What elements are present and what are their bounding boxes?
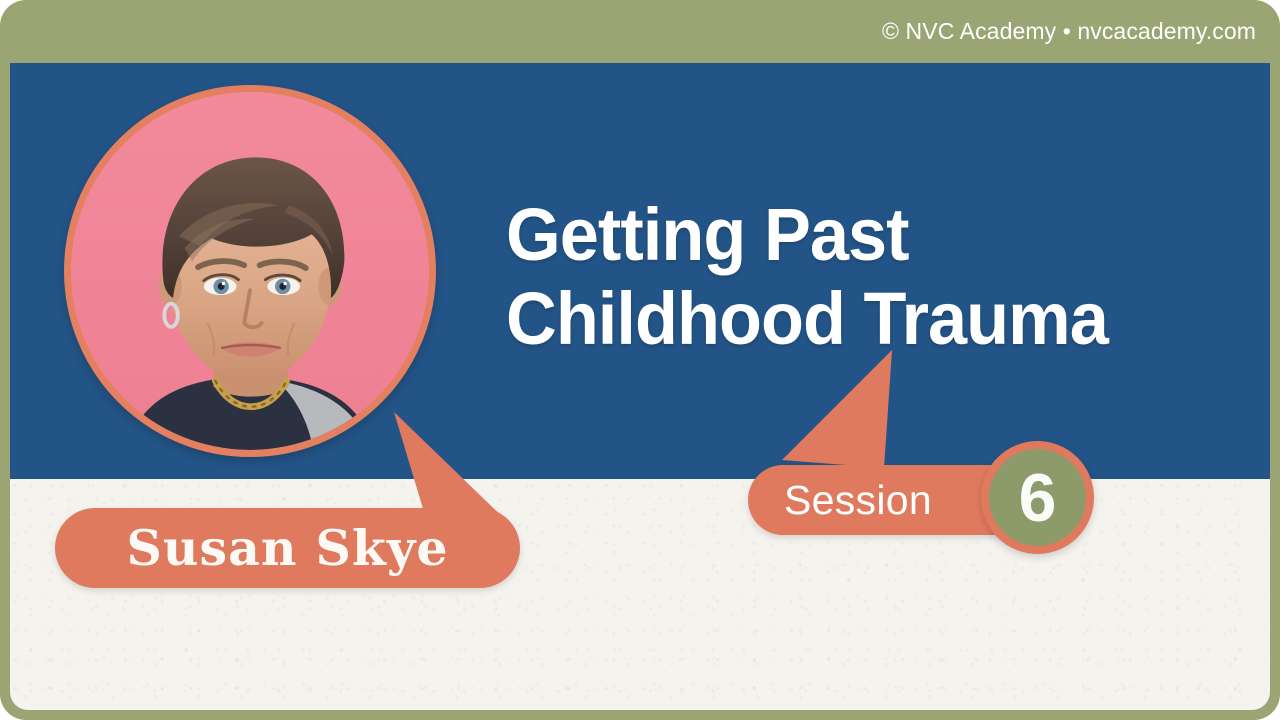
presentation-slide: © NVC Academy • nvcacademy.com bbox=[0, 0, 1280, 720]
copyright-text: © NVC Academy • nvcacademy.com bbox=[882, 18, 1256, 45]
title-line-1: Getting Past bbox=[506, 193, 1171, 277]
speaker-name-label: Susan Skye bbox=[126, 519, 448, 577]
page-title: Getting Past Childhood Trauma bbox=[506, 193, 1206, 361]
session-number-badge: 6 bbox=[981, 441, 1094, 554]
speaker-name-badge: Susan Skye bbox=[55, 508, 520, 588]
susan-skye-portrait-image bbox=[71, 92, 429, 450]
session-callout-tail bbox=[780, 348, 900, 473]
avatar bbox=[64, 85, 436, 457]
copyright-bar: © NVC Academy • nvcacademy.com bbox=[0, 0, 1280, 63]
session-label: Session bbox=[784, 477, 932, 524]
session-number: 6 bbox=[1019, 464, 1057, 532]
